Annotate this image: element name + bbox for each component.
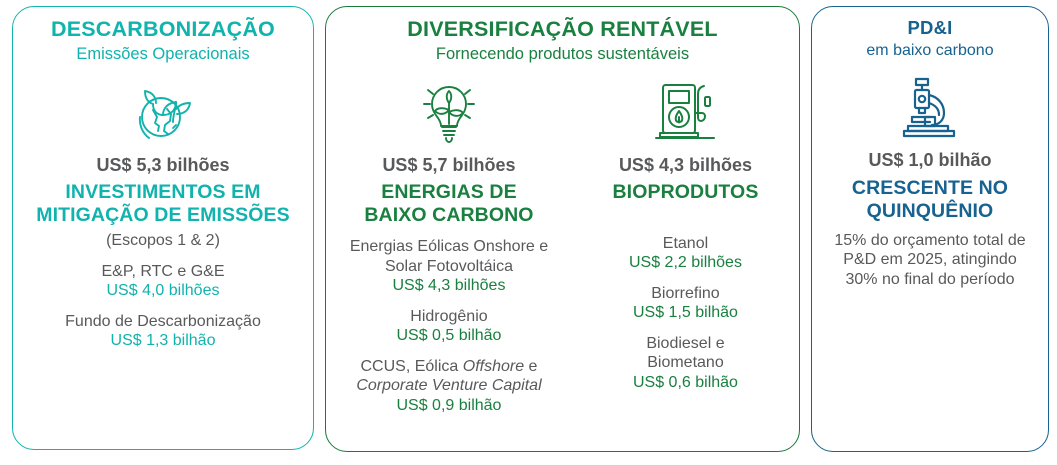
card-header: PD&I em baixo carbono [812,17,1048,60]
detail-label: Etanol [629,234,742,254]
detail-item: Etanol US$ 2,2 bilhões [629,234,742,273]
category-line: CRESCENTE NO [852,177,1008,200]
card-title: DIVERSIFICAÇÃO RENTÁVEL [336,17,789,42]
card-header: DIVERSIFICAÇÃO RENTÁVEL Fornecendo produ… [326,17,799,65]
detail-value: US$ 0,9 bilhão [332,396,566,416]
category-title: CRESCENTE NO QUINQUÊNIO [852,177,1008,222]
category-title: INVESTIMENTOS EM MITIGAÇÃO DE EMISSÕES [36,181,289,226]
card-subtitle: em baixo carbono [822,41,1038,60]
globe-leaf-icon [127,69,199,155]
detail-label: Biodiesel e Biometano [620,334,750,373]
detail-value: US$ 1,5 bilhão [633,303,738,323]
card-subtitle: Emissões Operacionais [23,45,303,65]
detail-value: US$ 0,5 bilhão [396,326,501,346]
amount-value: US$ 4,3 bilhões [619,155,752,177]
card-columns: US$ 5,7 bilhões ENERGIAS DE BAIXO CARBON… [326,65,799,451]
amount-value: US$ 5,3 bilhões [96,155,229,177]
detail-item: Biorrefino US$ 1,5 bilhão [633,284,738,323]
column-bioprodutos: US$ 4,3 bilhões BIOPRODUTOS Etanol US$ 2… [572,65,799,451]
detail-item: Fundo de Descarbonização US$ 1,3 bilhão [65,312,261,351]
category-line: BAIXO CARBONO [364,204,533,227]
category-line: ENERGIAS DE [364,181,533,204]
category-line: BIOPRODUTOS [613,181,759,204]
category-title: ENERGIAS DE BAIXO CARBONO [364,181,533,226]
card-header: DESCARBONIZAÇÃO Emissões Operacionais [13,17,313,65]
detail-item: Biodiesel e Biometano US$ 0,6 bilhão [620,334,750,393]
category-note: 15% do orçamento total de P&D em 2025, a… [828,231,1032,289]
card-subtitle: Fornecendo produtos sustentáveis [336,45,789,65]
microscope-icon [896,64,964,150]
card-columns: US$ 1,0 bilhão CRESCENTE NO QUINQUÊNIO 1… [812,150,1048,451]
fuel-pump-leaf-icon [650,69,720,155]
category-line: MITIGAÇÃO DE EMISSÕES [36,204,289,227]
detail-label: Biorrefino [633,284,738,304]
category-title: BIOPRODUTOS [613,181,759,204]
lightbulb-plant-icon [414,69,484,155]
column-energias-baixo-carbono: US$ 5,7 bilhões ENERGIAS DE BAIXO CARBON… [326,65,572,451]
card-title: PD&I [822,17,1038,38]
detail-item: E&P, RTC e G&E US$ 4,0 bilhões [101,262,224,301]
detail-label: E&P, RTC e G&E [101,262,224,282]
card-pdi: PD&I em baixo carbono US$ 1,0 bilhã [811,6,1049,452]
card-columns: US$ 5,3 bilhões INVESTIMENTOS EM MITIGAÇ… [13,155,313,449]
detail-value: US$ 2,2 bilhões [629,253,742,273]
card-descarbonizacao: DESCARBONIZAÇÃO Emissões Operacionais US… [12,6,314,450]
detail-label: Hidrogênio [396,307,501,327]
detail-label: Energias Eólicas Onshore e Solar Fotovol… [332,237,566,276]
amount-value: US$ 5,7 bilhões [382,155,515,177]
infographic-board: DESCARBONIZAÇÃO Emissões Operacionais US… [0,0,1057,465]
detail-label: Fundo de Descarbonização [65,312,261,332]
detail-item: Hidrogênio US$ 0,5 bilhão [396,307,501,346]
detail-label: CCUS, Eólica Offshore e Corporate Ventur… [332,357,566,396]
column-crescente-quinquenio: US$ 1,0 bilhão CRESCENTE NO QUINQUÊNIO 1… [812,150,1048,451]
detail-item: Energias Eólicas Onshore e Solar Fotovol… [332,237,566,296]
card-diversificacao-rentavel: DIVERSIFICAÇÃO RENTÁVEL Fornecendo produ… [325,6,800,452]
amount-value: US$ 1,0 bilhão [868,150,991,172]
detail-value: US$ 0,6 bilhão [620,373,750,393]
detail-value: US$ 4,3 bilhões [332,276,566,296]
card-title: DESCARBONIZAÇÃO [23,17,303,42]
category-note: (Escopos 1 & 2) [106,231,220,250]
category-line: INVESTIMENTOS EM [36,181,289,204]
detail-item: CCUS, Eólica Offshore e Corporate Ventur… [332,357,566,416]
column-mitigacao-emissoes: US$ 5,3 bilhões INVESTIMENTOS EM MITIGAÇ… [13,155,313,449]
detail-value: US$ 1,3 bilhão [65,331,261,351]
detail-value: US$ 4,0 bilhões [101,281,224,301]
category-line: QUINQUÊNIO [852,200,1008,223]
